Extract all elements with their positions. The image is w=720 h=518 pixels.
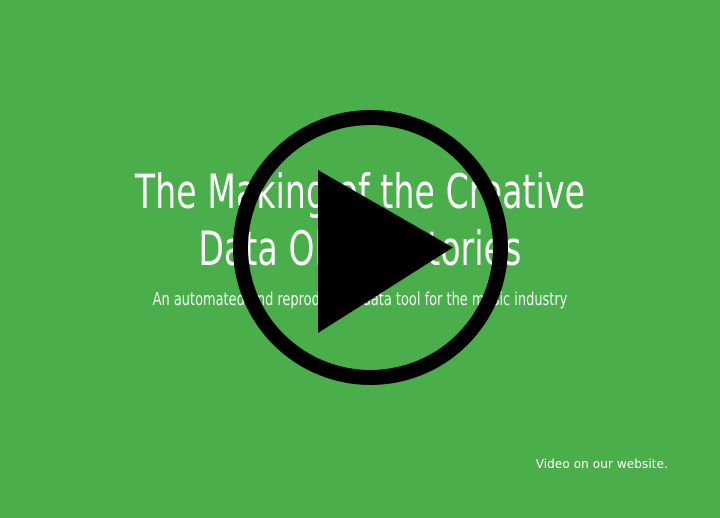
video-poster[interactable]: The Making of the Creative Data Observat…: [0, 0, 720, 518]
video-caption[interactable]: Video on our website.: [536, 456, 668, 472]
play-triangle-icon: [318, 170, 453, 333]
play-button[interactable]: [228, 105, 513, 390]
